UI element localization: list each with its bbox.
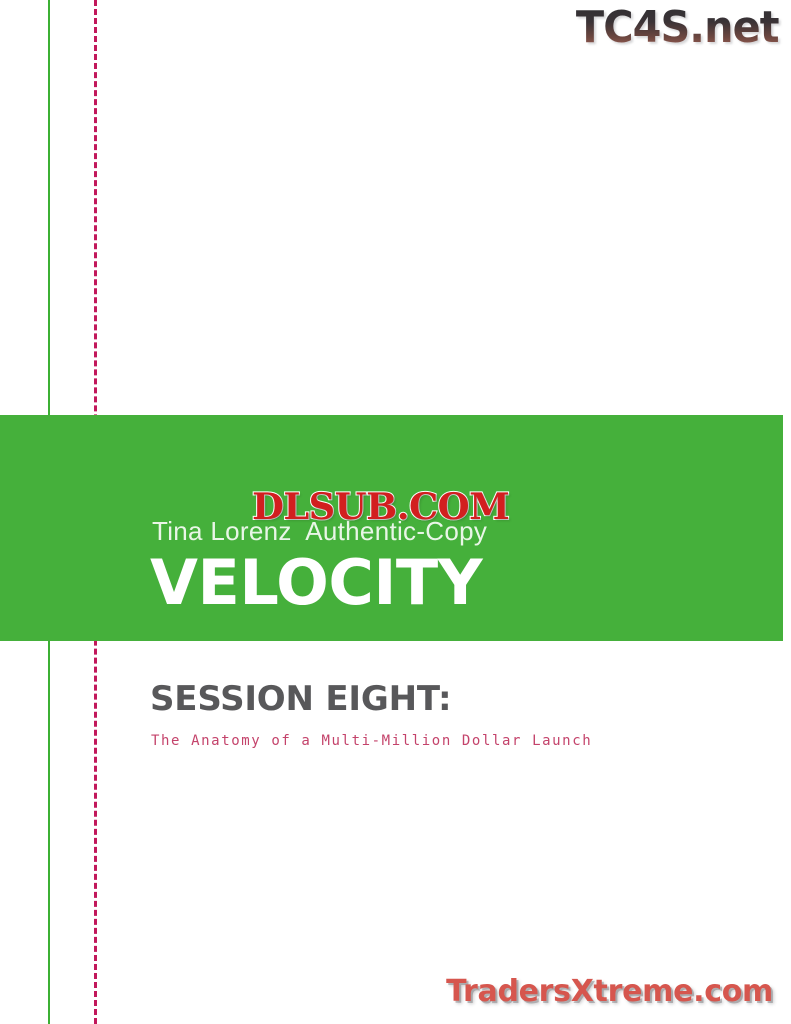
watermark-dlsub: DLSUB.COM [252,487,509,527]
site-logo-tc4s: TC4S.net [576,2,779,54]
session-subtitle: The Anatomy of a Multi-Million Dollar La… [151,730,592,752]
footer-logo-tradersxtreme: TradersXtreme.com [446,974,773,1010]
session-heading: SESSION EIGHT: [150,678,451,720]
document-page: TC4S.net TC4S.net Tina Lorenz Authentic-… [0,0,791,1024]
hero-title-velocity: VELOCITY [150,547,482,619]
